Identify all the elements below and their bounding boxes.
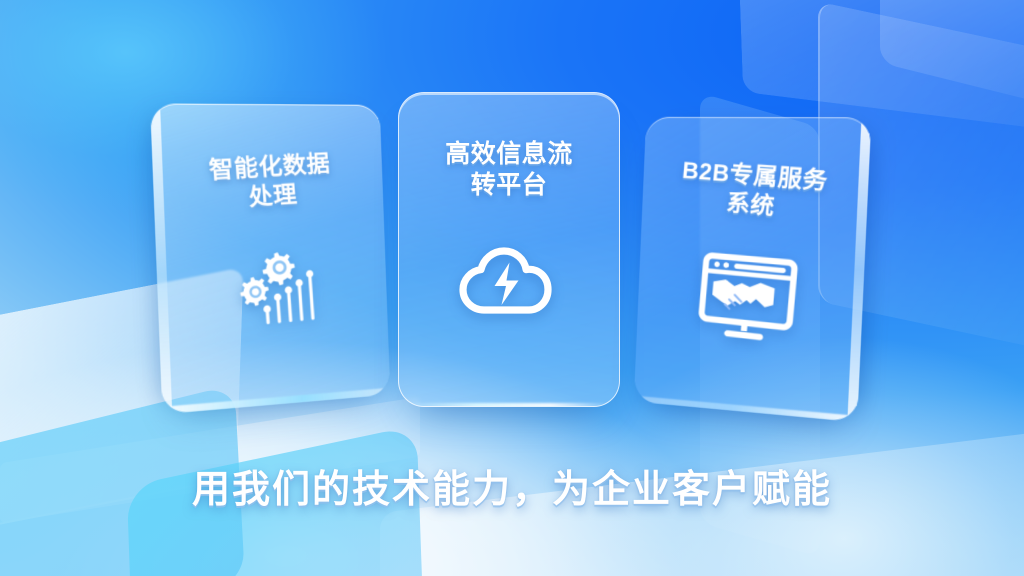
card-content: 高效信息流 转平台 xyxy=(399,93,619,406)
card-title-b2b-service-system: B2B专属服务 系统 xyxy=(649,154,861,229)
feature-card-b2b-service-system[interactable]: B2B专属服务 系统 xyxy=(634,117,872,422)
card-title-information-flow-platform: 高效信息流 转平台 xyxy=(408,139,610,200)
slide-caption: 用我们的技术能力，为企业客户赋能 xyxy=(0,458,1024,513)
slide-stage: 智能化数据 处理 xyxy=(0,0,1024,576)
card-content: 智能化数据 处理 xyxy=(150,103,390,414)
feature-card-intelligent-data-processing[interactable]: 智能化数据 处理 xyxy=(150,103,390,414)
gears-data-bars-icon xyxy=(227,242,323,332)
monitor-handshake-icon xyxy=(695,250,801,348)
feature-card-information-flow-platform[interactable]: 高效信息流 转平台 xyxy=(398,92,620,407)
card-content: B2B专属服务 系统 xyxy=(634,117,872,422)
card-title-intelligent-data-processing: 智能化数据 处理 xyxy=(161,146,376,217)
cloud-lightning-icon xyxy=(457,238,561,320)
